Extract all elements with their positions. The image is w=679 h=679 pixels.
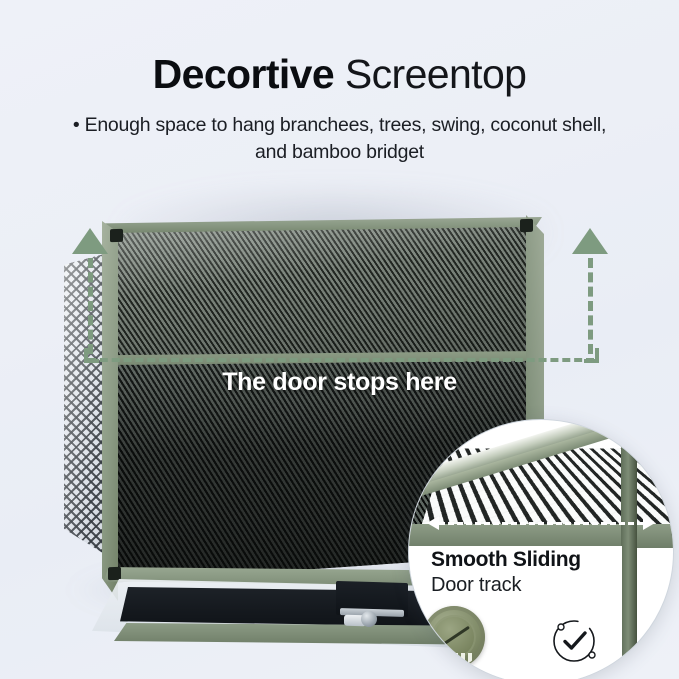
left-arrow-indicator [70, 228, 110, 368]
right-arrow-indicator [570, 228, 610, 368]
corner-bracket-top-right [520, 219, 533, 232]
inset-subtitle: Door track [431, 574, 521, 597]
check-circle-icon [545, 610, 603, 668]
up-arrow-head-icon [72, 228, 108, 254]
arrow-dashed-stem [588, 258, 593, 354]
arrow-head-left [427, 516, 439, 530]
corner-bracket-top-left [110, 229, 123, 242]
up-arrow-head-icon [572, 228, 608, 254]
door-latch-knob [361, 611, 377, 627]
subtitle-text: • Enough space to hang branchees, trees,… [70, 112, 610, 166]
arrow-head-right [643, 516, 655, 530]
stop-caption-text: The door stops here [0, 368, 679, 397]
header-block: Decortive Screentop • Enough space to ha… [0, 0, 679, 200]
page-title: Decortive Screentop [0, 0, 679, 98]
title-light-word: Screentop [345, 51, 527, 97]
dashed-stop-line [88, 358, 594, 362]
arrow-dashed-stem [88, 258, 93, 354]
knob-knurl-texture [433, 653, 475, 664]
lid-sheen [106, 221, 536, 361]
product-feature-graphic: Decortive Screentop • Enough space to ha… [0, 0, 679, 679]
dial-knob-icon [423, 606, 485, 668]
inset-title: Smooth Sliding [431, 548, 581, 572]
inset-callout-circle: Smooth Sliding Door track [408, 419, 674, 679]
arrow-dashed-line [439, 522, 643, 525]
double-headed-arrow-icon [427, 516, 655, 530]
corner-bracket-bottom-left [108, 567, 121, 580]
inset-corner-post [621, 420, 637, 679]
title-bold-word: Decortive [153, 51, 334, 97]
